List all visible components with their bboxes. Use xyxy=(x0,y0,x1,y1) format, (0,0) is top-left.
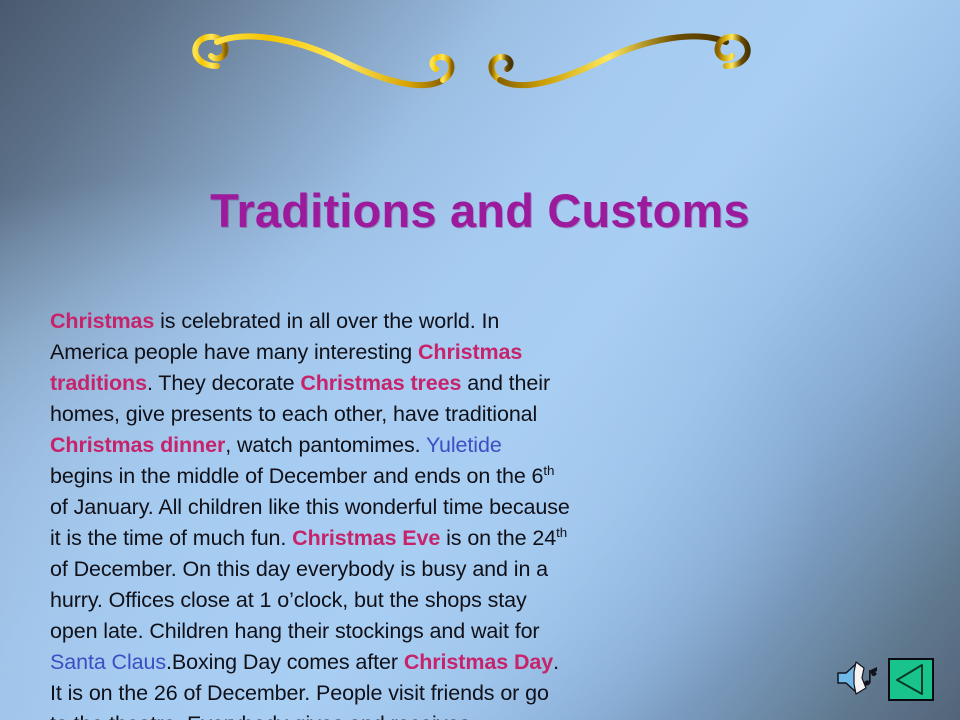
term-christmas-eve: Christmas Eve xyxy=(292,526,440,550)
speaker-sound-icon[interactable] xyxy=(836,658,880,698)
term-santa-claus: Santa Claus xyxy=(50,650,166,674)
body-run-5: , watch pantomimes. xyxy=(225,433,426,457)
slide-body-text: Christmas is celebrated in all over the … xyxy=(50,306,570,720)
left-triangle-icon xyxy=(890,660,932,699)
body-run-10: .Boxing Day comes after xyxy=(166,650,404,674)
slide-title: Traditions and Customs xyxy=(0,183,960,238)
body-run-6: begins in the middle of December and end… xyxy=(50,464,543,488)
ordinal-suffix-24th: th xyxy=(556,525,567,540)
previous-slide-button[interactable] xyxy=(888,658,934,701)
term-christmas-day: Christmas Day xyxy=(404,650,553,674)
presentation-slide: Traditions and Customs Christmas is cele… xyxy=(0,0,960,720)
body-run-9: of December. On this day everybody is bu… xyxy=(50,557,548,643)
body-run-3: . They decorate xyxy=(147,371,300,395)
body-run-1: is celebrated in all over the world. xyxy=(154,309,475,333)
term-christmas-trees: Christmas trees xyxy=(300,371,461,395)
body-run-8: is on the 24 xyxy=(440,526,556,550)
term-yuletide: Yuletide xyxy=(426,433,502,457)
gold-flourish-divider xyxy=(175,22,775,97)
ordinal-suffix-6th: th xyxy=(543,463,554,478)
body-paragraph: Christmas is celebrated in all over the … xyxy=(50,306,570,720)
term-christmas-dinner: Christmas dinner xyxy=(50,433,225,457)
term-christmas: Christmas xyxy=(50,309,154,333)
